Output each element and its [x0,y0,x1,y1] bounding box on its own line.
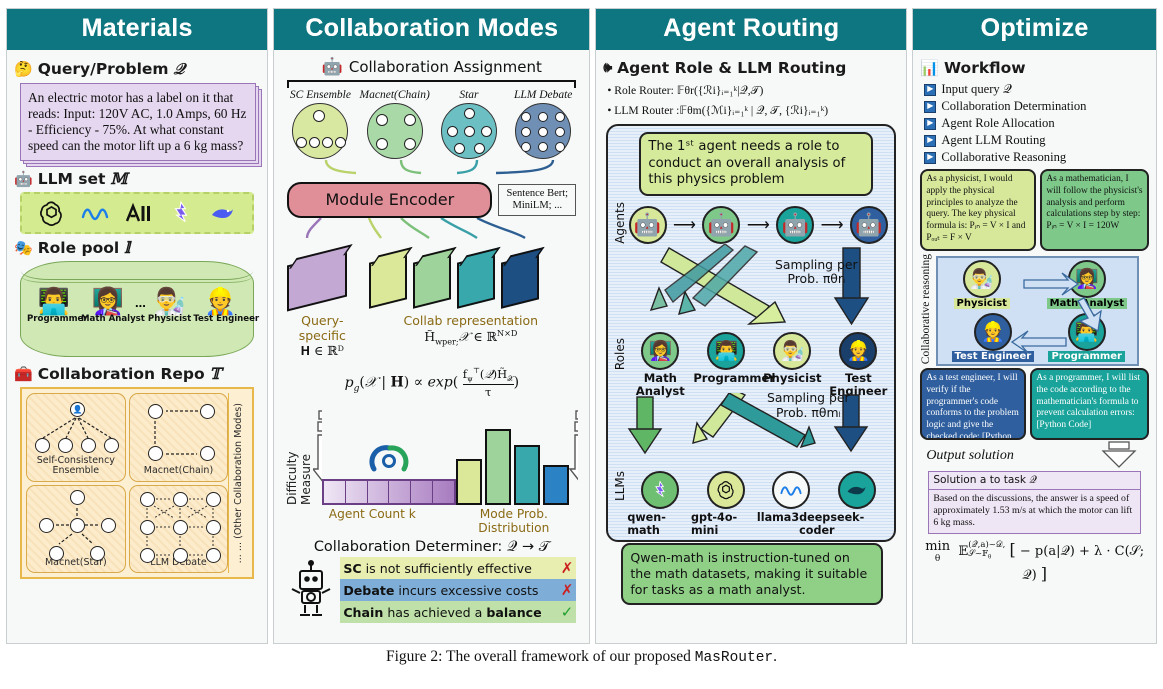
graph-node [521,127,531,137]
verdict-mark: ✗ [561,559,574,577]
mode-name: SC Ensemble [283,89,357,101]
llm-name-labels: qwen-math gpt-4o-mini llama3 deepseek-co… [627,511,889,537]
play-icon: ▶ [924,101,936,113]
test-engineer-avatar-icon: 👷 [193,288,247,314]
sc-ensemble-graph: 👤 [27,394,125,456]
graph-node [521,142,531,152]
panel-materials-title: Materials [7,9,267,50]
sc-edges [27,394,125,456]
deepseek-coder-icon[interactable] [838,471,876,509]
collaboration-determiner-label: Collaboration Determiner: 𝒬 → 𝒯 [281,539,582,555]
graph-node [454,143,465,154]
solution-text: Based on the discussions, the answer is … [929,490,1140,533]
repo-mode-label: Macnet(Chain) [144,466,213,476]
panel-optimize-title: Optimize [913,9,1156,50]
role-item-test-engineer: 👷 Test Engineer [193,288,247,324]
llms-row-wrap: LLMs [613,471,889,537]
encoder-to-vectors-arrows [281,218,584,240]
workflow-step[interactable]: ▶ Agent LLM Routing [924,132,1149,149]
collab-vector-bar [369,253,407,308]
llm-name: deepseek-coder [799,511,889,537]
workflow-step[interactable]: ▶ Input query 𝒬 [924,81,1149,98]
mode-name: Macnet(Chain) [358,89,432,101]
graph-node [313,110,325,122]
prob-bar-debate [543,465,569,505]
repo-mode-label: Self-Consistency Ensemble [27,456,125,477]
agents-row-label: Agents [613,202,627,244]
play-icon: ▶ [924,152,936,164]
role-node-math-analyst[interactable]: 👩‍🏫 Math Analyst [627,332,693,398]
repo-cell-llm-debate[interactable]: LLM Debate [129,485,229,574]
role-label: Math Analyst [81,314,135,324]
verdict-block: SC is not sufficiently effective ✗ Debat… [287,557,576,623]
verdict-mark: ✗ [561,581,574,599]
prob-bar-sc [456,459,482,505]
role-router-bullet: • Role Router: 𝔽θr({ℛi}ᵢ₌₁ᵏ|𝒬,𝒯) [607,81,899,101]
deepseek-logo-icon [209,202,237,224]
mathematician-bubble: As a mathematician, I will follow the ph… [1040,169,1149,251]
top-speech-bubble: The 1ˢᵗ agent needs a role to conduct an… [639,132,873,196]
repo-cell-macnet-star[interactable]: Macnet(Star) [26,485,126,574]
agent-node-3[interactable]: 🤖 [776,206,814,244]
mode-probability-formula: pg(𝒳 | H) ∝ exp( fψ⊤(𝒬)H̃𝒳 τ ) [281,366,582,399]
graph-node [376,114,388,126]
graph-node [474,143,485,154]
qwen-logo-icon [168,200,194,226]
collab-vector-bar [501,253,539,308]
llmset-symbol: 𝕄 [110,169,127,188]
graph-node [376,138,388,150]
role-item-physicist: 👨‍🔬 Physicist [146,288,193,324]
verdict-row-sc: SC is not sufficiently effective ✗ [340,557,576,579]
qwen-math-icon[interactable] [641,471,679,509]
workflow-step[interactable]: ▶ Collaboration Determination [924,98,1149,115]
llm-sampling-label: Sampling per Prob. πθmₗ [763,391,853,420]
test-engineer-bubble: As a test engineer, I will verify if the… [920,368,1026,440]
top-bubbles-row: As a physicist, I would apply the physic… [920,169,1149,251]
programmer-icon: 👨‍💻 [707,332,745,370]
graph-node [322,137,333,148]
verdict-text: has achieved a [383,605,486,620]
llama3-icon[interactable] [772,471,810,509]
role-label: Physicist [146,314,193,324]
programmer-bubble: As a programmer, I will list the code ac… [1030,368,1149,440]
graph-node [521,112,531,122]
framework-figure: Materials 🤔 Query/Problem 𝒬 An electric … [0,0,1163,644]
agent-node-4[interactable]: 🤖 [850,206,888,244]
role-name: Programmer [693,372,759,385]
difficulty-and-distribution: Difficulty Measure [285,401,578,505]
agents-row: 🤖 ⟶ 🤖 ⟶ 🤖 ⟶ 🤖 [627,206,889,244]
workflow-section-title: 📊 Workflow [920,59,1149,77]
output-down-arrow [1089,441,1149,469]
verdict-row-debate: Debate incurs excessive costs ✗ [340,579,576,601]
graph-node [538,142,548,152]
graph-node [404,138,416,150]
mode-name-labels: SC Ensemble Macnet(Chain) Star LLM Debat… [283,89,580,101]
module-encoder-row: Module Encoder Sentence Bert; MiniLM; ..… [287,182,576,218]
module-encoder-box[interactable]: Module Encoder [287,182,492,218]
role-label: Programmer [27,314,81,324]
mode-to-encoder-arrows [281,160,584,176]
repo-side-note: ... ... (Other Collaboration Modes) [228,393,248,573]
collab-vector-bar [413,253,451,308]
llm-router-bullet: • LLM Router :𝔽θm({ℳi}ᵢ₌₁ᵏ | 𝒬, 𝒯, {ℛi}ᵢ… [607,101,899,121]
workflow-step[interactable]: ▶ Collaborative Reasoning [924,149,1149,166]
encoder-models-box: Sentence Bert; MiniLM; ... [498,184,576,216]
assignment-label: Collaboration Assignment [349,58,542,76]
panel-routing-title: Agent Routing [596,9,906,50]
toolbox-icon: 🧰 [14,365,33,383]
macnet-star-graph [27,486,125,558]
robot-icon: 🤖 [14,170,33,188]
solution-box: Solution a to task 𝒬 Based on the discus… [928,471,1141,534]
panel-optimize-body: 📊 Workflow ▶ Input query 𝒬 ▶ Collaborati… [913,50,1156,643]
mode-circle-macnet-chain[interactable] [367,103,423,159]
role-item-math-analyst: 👩‍🏫 Math Analyst [81,288,135,324]
workflow-step-label: Agent Role Allocation [941,115,1054,132]
caption-mono: MasRouter [695,650,773,666]
modes-axis-bracket [287,80,576,88]
bottom-speech-bubble: Qwen-math is instruction-tuned on the ma… [621,543,883,604]
panel-materials-body: 🤔 Query/Problem 𝒬 An electric motor has … [7,50,267,643]
routing-section-label: Agent Role & LLM Routing [617,59,846,77]
graph-node [404,114,416,126]
collab-repr-math: H̃wper;𝒳 ∈ ℝN×D [361,328,580,347]
role-sampling-label: Sampling per Prob. πθrᵢ [771,258,861,287]
math-analyst-avatar-icon: 👩‍🏫 [81,288,135,314]
role-node-test-engineer[interactable]: 👷 Test Engineer [825,332,891,398]
arrow-right-icon: ⟶ [673,215,696,235]
verdict-row-chain: Chain has achieved a balance ✓ [340,601,576,623]
chain-edges [130,394,228,466]
rolepool-symbol: 𝕝 [124,238,130,257]
llm-name: llama3 [757,511,799,537]
solution-header: Solution a to task 𝒬 [929,472,1140,490]
robot-mascot-icon [287,559,335,621]
graph-node [555,127,565,137]
verdict-mark: ✓ [561,603,574,621]
graph-node [464,126,475,137]
repo-section-label: Collaboration Repo [38,365,205,383]
agent-node-2[interactable]: 🤖 [702,206,740,244]
gpt-4o-mini-icon[interactable] [707,471,745,509]
collaborative-reasoning-box: 👨‍🔬 Physicist 👩‍🏫 Math Analyst 👷 Test En… [936,256,1139,366]
routing-section-title: 🕪 Agent Role & LLM Routing [603,59,899,77]
router-bullets: • Role Router: 𝔽θr({ℛi}ᵢ₌₁ᵏ|𝒬,𝒯) • LLM R… [607,81,899,120]
prob-bar-chain [485,429,511,505]
agent-count-bar[interactable] [322,479,456,505]
openai-logo-icon [38,200,65,227]
collab-repr-label: Collab representation [361,313,580,328]
llm-logo-strip [20,192,254,234]
representation-bars [287,250,578,304]
collaboration-assignment-title: 🤖 Collaboration Assignment [281,57,582,77]
rolepool-section-title: 🎭 Role pool 𝕝 [14,238,260,257]
workflow-chart-icon: 📊 [920,59,939,77]
llm-sampling-arrows [609,393,905,467]
bottom-bubbles-row: As a test engineer, I will verify if the… [920,368,1149,440]
graph-node [464,108,475,119]
roles-row: 👩‍🏫 Math Analyst 👨‍💻 Programmer 👨‍🔬 Phys… [627,332,891,398]
llm-routing-arrows-area: Sampling per Prob. πθmₗ [613,397,889,471]
graph-node [296,137,307,148]
roles-row-wrap: Roles 👩‍🏫 Math Analyst 👨‍💻 Programmer 👨‍… [613,332,889,398]
mode-circle-llm-debate[interactable] [515,103,571,159]
workflow-steps-list: ▶ Input query 𝒬 ▶ Collaboration Determin… [924,81,1149,166]
play-icon: ▶ [924,135,936,147]
objective-formula: minθ 𝔼 (𝒬,a)~𝒟,𝒮~𝔽θ [ − p(a|𝒬) + λ · C(𝒮… [920,539,1149,583]
workflow-step-label: Collaborative Reasoning [941,149,1066,166]
figure-caption: Figure 2: The overall framework of our p… [0,648,1163,666]
output-row: Output solution [920,441,1149,469]
llm-name: qwen-math [627,511,691,537]
mode-name: Star [432,89,506,101]
mode-graph-circles [283,103,580,159]
arrow-right-icon: ⟶ [747,215,770,235]
agent-node-1[interactable]: 🤖 [629,206,667,244]
arrow-right-icon: ⟶ [821,215,844,235]
output-solution-label: Output solution [926,448,1089,464]
role-node-programmer[interactable]: 👨‍💻 Programmer [693,332,759,398]
robot-face-icon: 🤖 [322,57,343,77]
verdict-text: incurs excessive costs [394,583,538,598]
panel-agent-routing: Agent Routing 🕪 Agent Role & LLM Routing… [595,8,907,644]
llms-row: qwen-math gpt-4o-mini llama3 deepseek-co… [627,471,889,537]
physicist-bubble: As a physicist, I would apply the physic… [920,169,1036,251]
role-item-programmer: 👨‍💻 Programmer [27,288,81,324]
play-icon: ▶ [924,84,936,96]
meta-logo-icon [80,201,110,225]
role-name: Physicist [759,372,825,385]
caption-prefix: Figure 2: The overall framework of our p… [386,648,695,665]
collab-vector-bar [457,253,495,308]
workflow-step-label: Agent LLM Routing [941,132,1045,149]
workflow-step[interactable]: ▶ Agent Role Allocation [924,115,1149,132]
query-section-title: 🤔 Query/Problem 𝒬 [14,59,260,79]
graph-node [538,112,548,122]
difficulty-measure-label: Difficulty Measure [285,409,313,505]
repo-section-title: 🧰 Collaboration Repo 𝕋 [14,364,260,383]
panel-optimize: Optimize 📊 Workflow ▶ Input query 𝒬 ▶ Co… [912,8,1157,644]
repo-side-label: ... ... (Other Collaboration Modes) [233,403,244,563]
repo-cell-sc-ensemble[interactable]: 👤 Self-Consistency Ensemble [26,393,126,482]
query-specific-math: 𝐇 ∈ ℝᴰ [283,343,361,359]
role-pool-cylinder: 👨‍💻 Programmer 👩‍🏫 Math Analyst ... 👨‍🔬 … [20,261,254,357]
role-routing-arrows-area: Sampling per Prob. πθrᵢ [613,244,889,336]
mode-name: LLM Debate [506,89,580,101]
megaphone-icon: 🕪 [603,60,612,76]
debate-edges [130,486,228,558]
llm-icons [627,471,889,509]
mode-prob-label: Mode Prob. Distribution [449,507,578,535]
role-pool-items: 👨‍💻 Programmer 👩‍🏫 Math Analyst ... 👨‍🔬 … [27,288,247,324]
query-vector-bar [287,251,347,312]
play-icon: ▶ [924,118,936,130]
collaborative-reasoning-label: Collaborative reasoning [920,254,933,364]
llm-debate-graph [130,486,228,558]
panel-collab-title: Collaboration Modes [274,9,589,50]
ellipsis: ... [135,295,146,324]
lower-captions: Agent Count k Mode Prob. Distribution [307,507,578,535]
verdict-text: is not sufficiently effective [362,561,532,576]
workflow-step-label: Input query 𝒬 [941,81,1012,98]
workflow-label: Workflow [944,59,1026,77]
verdict-list: SC is not sufficiently effective ✗ Debat… [340,557,576,623]
query-symbol: 𝒬 [174,59,185,79]
graph-node [538,127,548,137]
routing-diagram: The 1ˢᵗ agent needs a role to conduct an… [606,124,896,542]
panel-routing-body: 🕪 Agent Role & LLM Routing • Role Router… [596,50,906,643]
roles-row-label: Roles [613,338,627,370]
verdict-bold2: balance [486,605,541,620]
mode-circle-sc-ensemble[interactable] [292,103,348,159]
graph-node [309,137,320,148]
star-edges [27,486,125,558]
llmset-section-label: LLM set [38,170,106,188]
masks-icon: 🎭 [14,239,33,257]
test-engineer-icon: 👷 [839,332,877,370]
programmer-avatar-icon: 👨‍💻 [27,288,81,314]
workflow-step-label: Collaboration Determination [941,98,1086,115]
sampling-role-text: Sampling per Prob. πθrᵢ [775,257,858,286]
gauge-icon [369,441,409,475]
query-specific-label: Query-specific [283,313,361,343]
verdict-bold: Chain [343,605,383,620]
mode-circle-star[interactable] [441,103,497,159]
vector-captions: Query-specific 𝐇 ∈ ℝᴰ Collab representat… [283,313,580,359]
repo-symbol: 𝕋 [210,364,222,383]
repo-cell-macnet-chain[interactable]: Macnet(Chain) [129,393,229,482]
distribution-down-arrow [569,409,578,505]
panel-materials: Materials 🤔 Query/Problem 𝒬 An electric … [6,8,268,644]
thinking-face-icon: 🤔 [14,60,33,78]
anthropic-logo-icon [125,201,153,225]
graph-node [555,142,565,152]
query-text-box: An electric motor has a label on it that… [20,83,256,161]
sampling-llm-text: Sampling per Prob. πθmₗ [767,390,850,419]
collab-reasoning-wrap: Collaborative reasoning 👨‍🔬 Physicist 👩‍… [920,253,1149,366]
collaboration-repo-grid: 👤 Self-Consistency Ensemble [20,387,254,579]
llm-name: gpt-4o-mini [691,511,757,537]
llms-row-label: LLMs [613,471,627,501]
query-section-label: Query/Problem [38,60,169,78]
graph-node [447,126,458,137]
rolepool-section-label: Role pool [38,239,120,257]
verdict-bold: Debate [343,583,394,598]
graph-node [335,137,346,148]
graph-node [555,112,565,122]
physicist-icon: 👨‍🔬 [773,332,811,370]
physicist-avatar-icon: 👨‍🔬 [146,288,193,314]
cylinder-lid-inner [21,269,253,283]
graph-node [481,126,492,137]
macnet-chain-graph [130,394,228,466]
math-analyst-icon: 👩‍🏫 [641,332,679,370]
llmset-section-title: 🤖 LLM set 𝕄 [14,169,260,188]
panel-collaboration-modes: Collaboration Modes 🤖 Collaboration Assi… [273,8,590,644]
difficulty-down-arrow [313,409,322,505]
panel-collab-body: 🤖 Collaboration Assignment SC Ensemble M… [274,50,589,643]
role-label: Test Engineer [193,314,247,324]
repo-cells: 👤 Self-Consistency Ensemble [26,393,228,573]
caption-suffix: . [773,648,777,665]
prob-bar-star [514,445,540,505]
mode-prob-bars [456,417,569,505]
agents-row-wrap: Agents 🤖 ⟶ 🤖 ⟶ 🤖 ⟶ 🤖 [613,202,889,244]
verdict-bold: SC [343,561,361,576]
cycle-arrows [938,258,1137,364]
role-node-physicist[interactable]: 👨‍🔬 Physicist [759,332,825,398]
agent-count-label: Agent Count k [307,507,437,535]
